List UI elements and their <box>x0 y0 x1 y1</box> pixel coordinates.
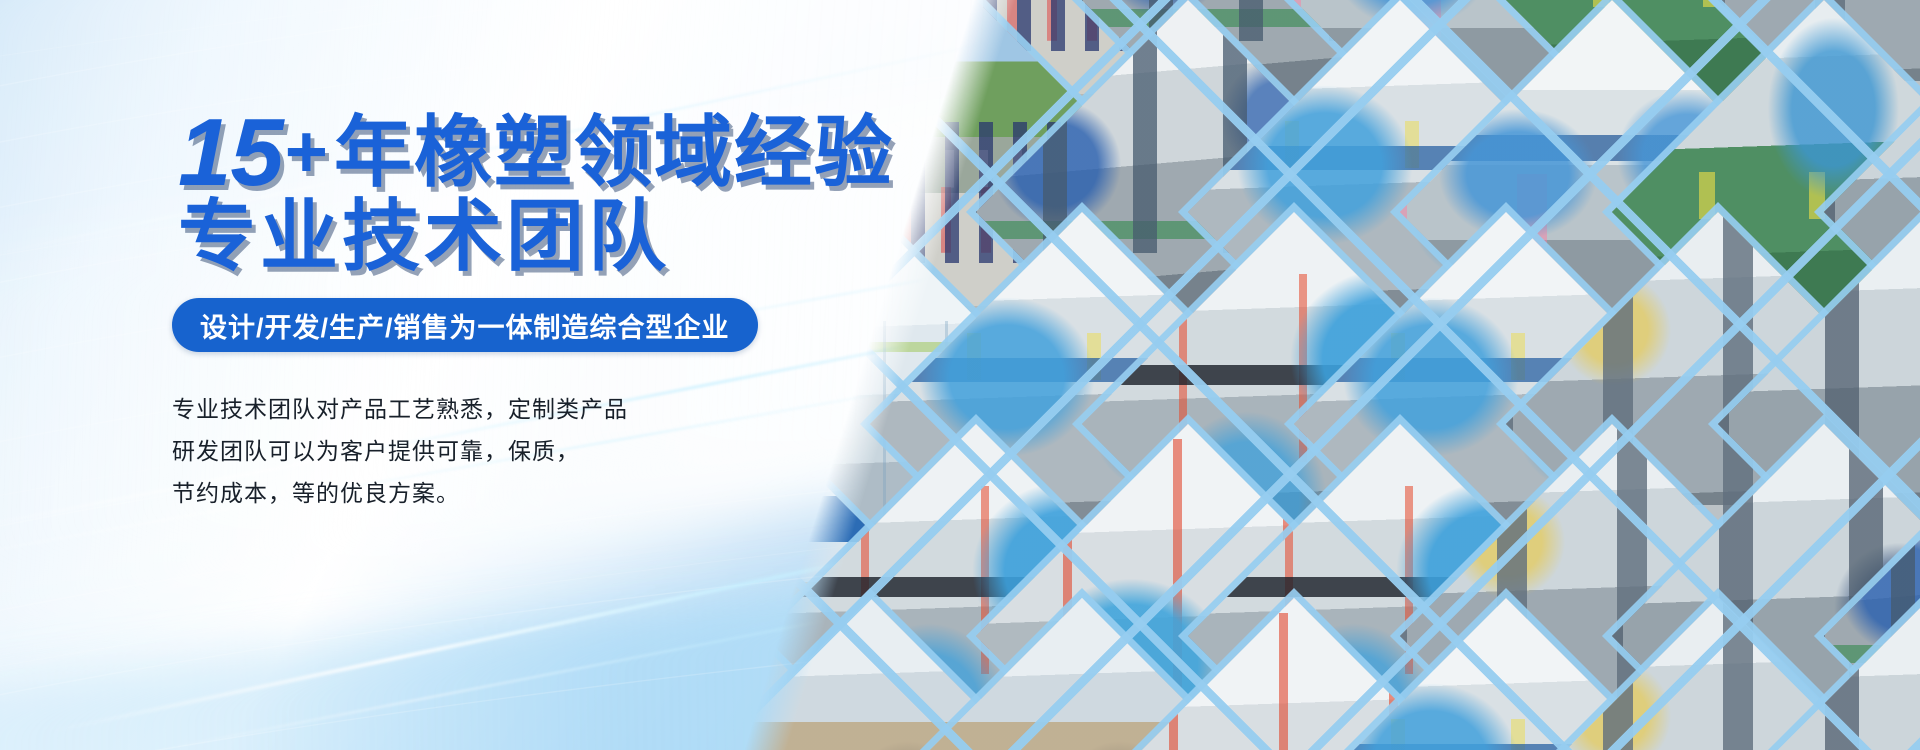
description-line-2: 研发团队可以为客户提供可靠，保质， <box>172 430 628 472</box>
hero-content: 15+年橡塑领域经验 专业技术团队 设计/开发/生产/销售为一体制造综合型企业 … <box>0 0 920 750</box>
years-number: 15 <box>178 99 283 206</box>
description-line-3: 节约成本，等的优良方案。 <box>172 472 628 514</box>
description-paragraph: 专业技术团队对产品工艺熟悉，定制类产品 研发团队可以为客户提供可靠，保质， 节约… <box>172 388 628 514</box>
plus-sign: + <box>285 110 330 193</box>
headline-line-2: 专业技术团队 <box>178 196 670 277</box>
company-hero-banner: 15+年橡塑领域经验 专业技术团队 设计/开发/生产/销售为一体制造综合型企业 … <box>0 0 1920 750</box>
description-line-1: 专业技术团队对产品工艺熟悉，定制类产品 <box>172 388 628 430</box>
headline-line-1: 15+年橡塑领域经验 <box>178 97 894 197</box>
business-scope-label: 设计/开发/生产/销售为一体制造综合型企业 <box>200 306 730 345</box>
business-scope-badge: 设计/开发/生产/销售为一体制造综合型企业 <box>172 298 758 352</box>
headline-line-1-text: 年橡塑领域经验 <box>334 108 894 196</box>
